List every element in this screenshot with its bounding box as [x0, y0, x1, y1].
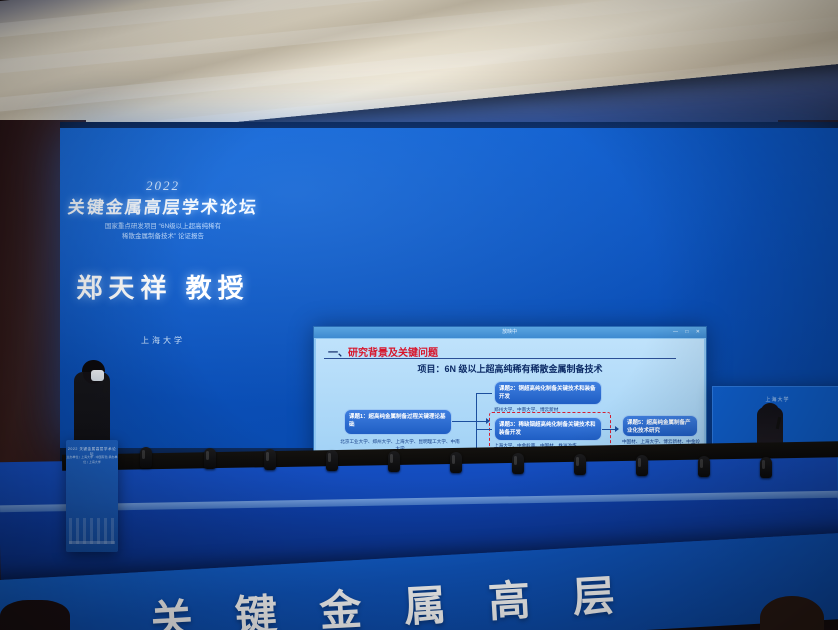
moving-head-light	[450, 452, 462, 473]
moving-head-light	[388, 451, 400, 472]
banner-text: 关 键 金 属 高 层	[149, 561, 632, 630]
speaker-face-mask	[91, 370, 104, 381]
moving-head-light	[698, 456, 710, 477]
poster-speaker-name: 郑天祥 教授	[68, 268, 258, 305]
moving-head-light	[140, 447, 152, 468]
podium-subtitle: 主办单位 | 上海大学 · 中国有色 承办单位 | 上海大学	[66, 455, 118, 465]
moving-head-light	[512, 453, 524, 474]
poster-forum-title: 关键金属高层学术论坛	[67, 193, 260, 218]
poster-subtitle-line1: 国家重点研发项目 “6N级以上超高纯稀有	[68, 222, 258, 232]
moving-head-light	[204, 448, 216, 469]
slide-project-line: 项目：6N 级以上超高纯稀有稀散金属制备技术	[316, 362, 704, 375]
topic-box-5: 课题5：超高纯金属制备产业化技术研究	[622, 415, 698, 437]
forum-poster-panel: 2022 关键金属高层学术论坛 国家重点研发项目 “6N级以上超高纯稀有 稀散金…	[68, 178, 258, 378]
moving-head-light	[760, 457, 772, 478]
window-title-text: 放映中	[502, 328, 517, 335]
podium: 2022 关键金属高层学术论坛 主办单位 | 上海大学 · 中国有色 承办单位 …	[66, 440, 118, 552]
moving-head-light	[636, 455, 648, 476]
poster-speaker-org: 上海大学	[68, 335, 258, 346]
slide-section-heading: 一、研究背景及关键问题	[328, 344, 438, 359]
led-video-wall: 2022 关键金属高层学术论坛 国家重点研发项目 “6N级以上超高纯稀有 稀散金…	[60, 128, 838, 448]
window-controls[interactable]: — □ ✕	[673, 329, 703, 335]
conference-hall-photo: 2022 关键金属高层学术论坛 国家重点研发项目 “6N级以上超高纯稀有 稀散金…	[0, 0, 838, 630]
topic-box-1: 课题1：超高纯金属制备过程关键理论基础	[344, 409, 452, 435]
poster-subtitle-line2: 稀散金属制备技术” 论证报告	[68, 232, 258, 242]
window-title-bar[interactable]: 放映中 — □ ✕	[314, 327, 706, 338]
moving-head-light	[264, 449, 276, 470]
topic-box-2: 课题2：铜超高纯化制备关键技术和装备开发	[494, 381, 602, 405]
audience-head-left	[0, 600, 70, 630]
topic-box-3: 课题3：稀缺铟超高纯化制备关键技术和装备开发	[494, 417, 602, 441]
camera-overlay-text: 上海大学	[765, 396, 789, 403]
podium-skyline-graphic	[69, 518, 115, 544]
moving-head-light	[574, 454, 586, 475]
heading-underline	[324, 358, 676, 359]
poster-year: 2022	[68, 178, 258, 194]
topic-institutions-2: 郑州大学、中南大学、博云新材	[494, 407, 612, 414]
moving-head-light	[326, 450, 338, 471]
